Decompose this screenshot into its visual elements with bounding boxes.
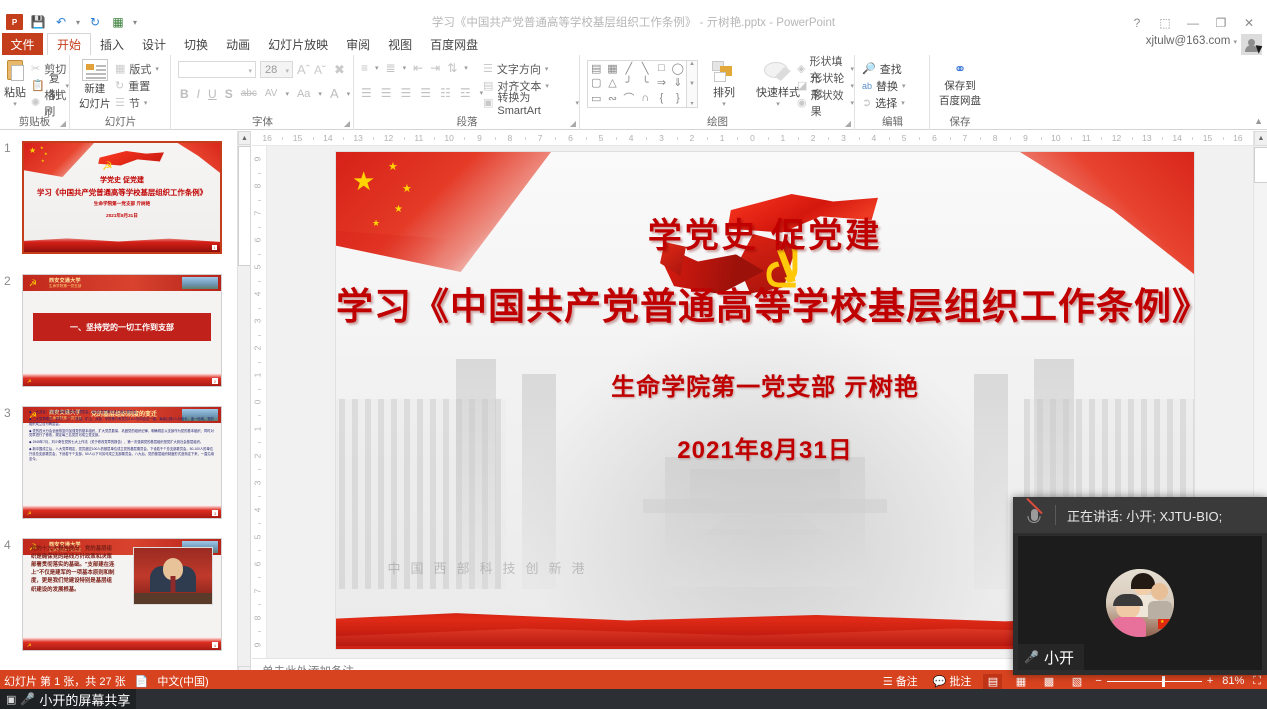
slide-thumbnail-preview[interactable]: ★★★★☭学党史 促党建学习《中国共产党普通高等学校基层组织工作条例》生命学院第… (22, 141, 222, 254)
slide-thumbnail-preview[interactable]: ☭西安交通大学生命学院第一党支部一、坚持党的一切工作到支部☭2 (22, 274, 222, 387)
text-shadow-button[interactable]: S (225, 87, 233, 101)
ruler-tick-label: 9 (1023, 133, 1028, 143)
scroll-thumb[interactable] (1254, 147, 1267, 183)
list-item: ◆ 二大党章规定：农村、工厂、铁路、矿山、兵营、学校等凡有党员3-5人的均应合一… (29, 417, 215, 427)
shape-elbow2-icon[interactable]: ╰ (642, 76, 649, 89)
quick-styles-chevron-icon[interactable]: ▾ (776, 100, 780, 108)
slide-title-line2[interactable]: 学习《中国共产党普通高等学校基层组织工作条例》 (336, 276, 1194, 330)
microphone-muted-icon[interactable] (1013, 497, 1055, 533)
ruler-tick (737, 137, 738, 140)
line-spacing-icon[interactable]: ⇅ (447, 61, 457, 75)
thumbnail-page-number: 3 (212, 510, 218, 516)
decrease-font-size-icon[interactable]: A˘ (314, 63, 326, 77)
font-name-chevron-icon[interactable]: ▾ (248, 67, 252, 75)
layout-button[interactable]: ▦ 版式 ▾ (115, 60, 159, 77)
shape-rect-icon[interactable]: □ (658, 62, 665, 74)
restore-icon[interactable]: ❐ (1207, 15, 1235, 31)
font-dialog-launcher-icon[interactable]: ◢ (344, 119, 350, 128)
group-label-drawing: 绘图 (581, 114, 854, 129)
thumbnail-scroll-up-icon[interactable]: ▲ (238, 131, 251, 145)
ruler-tick (258, 604, 261, 605)
font-name-input[interactable]: ▾ (178, 61, 256, 78)
gallery-expand-icon[interactable]: ▾ (690, 100, 693, 107)
slide-thumbnail-number: 2 (4, 274, 11, 288)
select-button[interactable]: ➲ 选择 ▾ (862, 94, 906, 111)
ruler-tick-label: 3 (841, 133, 846, 143)
new-slide-button[interactable]: 新建 幻灯片 (79, 59, 111, 111)
align-text-icon: ▤ (483, 79, 493, 92)
ribbon-group-drawing: ▤ ▦ ╱ ╲ □ ◯ ▢ △ ╯ ╰ ⇒ ⇓ ▭ ∾ ⌒ ∩ { (581, 55, 855, 130)
screen-share-icon: ▣ (6, 693, 16, 706)
scissors-icon: ✂ (31, 62, 40, 75)
ruler-tick-label: 12 (1112, 133, 1121, 143)
thumbnail-page-number: 4 (212, 642, 218, 648)
ruler-tick (258, 227, 261, 228)
tab-8[interactable]: 百度网盘 (421, 33, 487, 55)
ruler-tick (258, 496, 261, 497)
ruler-tick-label: 3 (252, 319, 262, 324)
ruler-tick (343, 137, 344, 140)
numbering-chevron-icon[interactable]: ▾ (403, 64, 407, 72)
smartart-chevron-icon[interactable]: ▾ (575, 99, 579, 107)
section-button[interactable]: ☰ 节 ▾ (115, 94, 159, 111)
slide-counter[interactable]: 幻灯片 第 1 张，共 27 张 (4, 673, 126, 689)
ruler-tick (980, 137, 981, 140)
star-icon: ★ (388, 160, 398, 173)
align-left-icon[interactable]: ☰ (361, 86, 372, 100)
align-right-icon[interactable]: ☰ (401, 86, 412, 100)
select-cursor-icon: ➲ (862, 96, 871, 109)
ruler-tick (586, 137, 587, 140)
shape-flow-icon[interactable]: ▭ (591, 92, 601, 105)
scroll-up-icon[interactable]: ▲ (1254, 131, 1267, 146)
ruler-tick-label: 2 (252, 454, 262, 459)
reset-icon: ↻ (115, 79, 124, 92)
clear-formatting-icon[interactable]: ✖ (334, 62, 345, 78)
slide-subtitle-2[interactable]: 2021年8月31日 (336, 430, 1194, 465)
ruler-tick-label: 5 (252, 265, 262, 270)
video-panel-header: 正在讲话: 小开; XJTU-BIO; (1013, 497, 1267, 533)
ruler-tick-label: 1 (252, 373, 262, 378)
ruler-tick (646, 137, 647, 140)
gallery-scroll-down-icon[interactable]: ▼ (689, 81, 695, 87)
shape-outline-chevron-icon[interactable]: ▾ (850, 82, 854, 90)
ruler-tick (258, 631, 261, 632)
ruler-tick-label: 7 (252, 588, 262, 593)
shape-arc-icon[interactable]: ⌒ (623, 90, 634, 106)
shape-arrow-down-icon[interactable]: ⇓ (673, 76, 682, 89)
ruler-tick (1101, 137, 1102, 140)
text-direction-button[interactable]: ☰ 文字方向 ▾ (483, 60, 579, 77)
list-item: ◆ 新中国成立后，八大党章规定，党员超过100人的基层单位成立党的基层委员会，下… (29, 447, 215, 461)
ruler-tick-label: 10 (444, 133, 453, 143)
taskbar-item-label: 小开的屏幕共享 (39, 690, 130, 709)
shape-roundrect-icon[interactable]: ▢ (591, 76, 601, 89)
list-item: ◆ 1945年7月，刘少奇在党的七大上作法（关于修改党章的报告），第一次强调党的… (29, 440, 215, 445)
title-bar: P 💾 ↶ ▾ ↻ ▦ ▾ 学习《中国共产党普通高等学校基层组织工作条例》 - … (0, 0, 1267, 33)
shape-arrow-icon[interactable]: ╲ (642, 62, 649, 75)
binoculars-icon: 🔎 (862, 62, 876, 75)
ruler-tick (258, 550, 261, 551)
ruler-tick (464, 137, 465, 140)
convert-smartart-button[interactable]: ▣ 转换为 SmartArt ▾ (483, 94, 579, 111)
paste-button[interactable]: 粘贴 ▾ (4, 60, 26, 108)
video-conference-panel[interactable]: 正在讲话: 小开; XJTU-BIO; ★ 🎤 小开 (1013, 497, 1267, 675)
underline-button[interactable]: U (208, 87, 217, 101)
ribbon: 粘贴 ▾ ✂ 剪切 📋 复制 ▾ ✺ 格式刷 剪贴板 ◢ (0, 55, 1267, 130)
ruler-tick-label: 12 (384, 133, 393, 143)
thumbnail-scroll-thumb[interactable] (238, 146, 251, 266)
slide-thumbnail-2[interactable]: 2☭西安交通大学生命学院第一党支部一、坚持党的一切工作到支部☭2 (22, 274, 222, 387)
party-emblem-icon: ☭ (29, 278, 42, 289)
avatar: ★ (1106, 569, 1174, 637)
tab-5[interactable]: 幻灯片放映 (259, 33, 337, 55)
group-label-paragraph: 段落 (355, 114, 579, 129)
ruler-tick-label: 1 (780, 133, 785, 143)
reading-view-button[interactable]: ▩ (1039, 674, 1058, 689)
window-controls[interactable]: ? ⬚ — ❐ ✕ (1123, 15, 1263, 31)
tab-file[interactable]: 文件 (2, 33, 43, 55)
thumbnail-header-sub: 生命学院第一党支部 (49, 284, 81, 289)
text-direction-chevron-icon[interactable]: ▾ (545, 65, 549, 73)
paragraph-dialog-launcher-icon[interactable]: ◢ (570, 119, 576, 128)
ruler-tick (258, 415, 261, 416)
close-icon[interactable]: ✕ (1235, 15, 1263, 31)
align-center-icon[interactable]: ☰ (381, 86, 392, 100)
comments-button[interactable]: 💬 批注 (930, 672, 975, 690)
change-case-chevron-icon[interactable]: ▾ (318, 90, 322, 98)
tab-1[interactable]: 插入 (91, 33, 133, 55)
ruler-tick (798, 137, 799, 140)
character-spacing-chevron-icon[interactable]: ▾ (285, 90, 289, 98)
account-chevron-icon[interactable]: ▾ (1233, 39, 1237, 46)
save-to-baidu-button[interactable]: ⚭ 保存到 百度网盘 (931, 60, 989, 108)
ruler-tick (258, 362, 261, 363)
ruler-tick-label: 0 (750, 133, 755, 143)
thumbnail-banner-text: 一、坚持党的一切工作到支部 (33, 313, 211, 341)
ribbon-tabs: 开始插入设计切换动画幻灯片放映审阅视图百度网盘 (47, 33, 487, 55)
bold-button[interactable]: B (180, 87, 189, 101)
arrange-button[interactable]: 排列 ▾ (711, 60, 737, 108)
ruler-tick-label: 7 (252, 211, 262, 216)
thumbnail-paragraph: 党的十九大报告提出，党的基层组织是确保党的路线方针政策和决策部署贯彻落实的基础。… (31, 545, 117, 594)
ruler-tick (258, 281, 261, 282)
taskbar: ▣ 🎤 小开的屏幕共享 (0, 689, 1267, 709)
thumbnail-bullet-list: ◆ 一大决议：只能立事和党和地方委员会，每5名党员即可设立地方委员会。◆ 二大党… (29, 410, 215, 464)
zoom-in-button[interactable]: + (1207, 675, 1213, 687)
strikethrough-button[interactable]: abc (241, 88, 257, 99)
help-icon[interactable]: ? (1123, 15, 1151, 31)
list-item: ◆ 一大决议：只能立事和党和地方委员会，每5名党员即可设立地方委员会。 (29, 410, 215, 415)
ruler-tick-label: 3 (252, 480, 262, 485)
shape-effects-icon: ◉ (797, 96, 807, 109)
proofing-icon[interactable]: 📄 (135, 675, 149, 688)
campus-photo (182, 277, 218, 289)
ruler-tick-label: 10 (1051, 133, 1060, 143)
ruler-tick (404, 137, 405, 140)
ruler-tick (1223, 137, 1224, 140)
fit-slide-icon[interactable]: ⛶ (1253, 675, 1261, 688)
font-size-chevron-icon[interactable]: ▾ (285, 67, 289, 75)
zoom-track[interactable] (1107, 681, 1202, 682)
paintbrush-icon: ✺ (31, 96, 40, 109)
footer-emblem-icon: ☭ (27, 379, 31, 385)
ruler-tick (919, 137, 920, 140)
group-label-save: 保存 (931, 114, 989, 129)
ruler-tick (555, 137, 556, 140)
ruler-tick (258, 335, 261, 336)
section-icon: ☰ (115, 96, 125, 109)
drawing-dialog-launcher-icon[interactable]: ◢ (845, 119, 851, 128)
thumbnail-content: ☭西安交通大学生命学院第一党支部党的十九大报告提出，党的基层组织是确保党的路线方… (23, 539, 221, 650)
ribbon-tab-bar: 文件 开始插入设计切换动画幻灯片放映审阅视图百度网盘 xjtulw@163.co… (0, 33, 1267, 55)
increase-font-size-icon[interactable]: Aˆ (297, 62, 310, 77)
window-title: 学习《中国共产党普通高等学校基层组织工作条例》 - 亓树艳.pptx - Pow… (0, 14, 1267, 30)
tab-2[interactable]: 设计 (133, 33, 175, 55)
font-color-chevron-icon[interactable]: ▾ (347, 90, 351, 98)
ruler-tick-label: 4 (629, 133, 634, 143)
shape-effects-chevron-icon[interactable]: ▾ (850, 99, 854, 107)
shape-freeform-icon[interactable]: ∾ (608, 92, 617, 105)
ruler-tick-label: 6 (932, 133, 937, 143)
ruler-tick (258, 442, 261, 443)
slide-thumbnail-1[interactable]: 1★★★★☭学党史 促党建学习《中国共产党普通高等学校基层组织工作条例》生命学院… (22, 141, 222, 254)
star-icon: ★ (402, 182, 412, 195)
ruler-tick (258, 469, 261, 470)
speaking-status-text: 正在讲话: 小开; XJTU-BIO; (1067, 506, 1222, 525)
ruler-tick (525, 137, 526, 140)
shapes-gallery-scrollbar[interactable]: ▲ ▼ ▾ (687, 60, 698, 108)
star-icon: ★ (352, 166, 375, 197)
ribbon-group-paragraph: ≡▾ ≣▾ ⇤ ⇥ ⇅▾ ☰ ☰ ☰ ☰ ☷ ☲▾ ☰ 文字方向 ▾ (355, 55, 580, 130)
smartart-icon: ▣ (483, 96, 493, 109)
ruler-tick-label: 6 (568, 133, 573, 143)
slide-sorter-view-button[interactable]: ▦ (1011, 674, 1030, 689)
ruler-tick-label: 16 (262, 133, 271, 143)
tab-7[interactable]: 视图 (379, 33, 421, 55)
ruler-tick-label: 13 (1142, 133, 1151, 143)
section-chevron-icon[interactable]: ▾ (144, 99, 148, 107)
ruler-tick (258, 200, 261, 201)
ruler-tick-label: 9 (477, 133, 482, 143)
ruler-tick (495, 137, 496, 140)
italic-button[interactable]: I (197, 87, 200, 101)
ruler-tick (1041, 137, 1042, 140)
reset-button[interactable]: ↻ 重置 (115, 77, 159, 94)
group-label-slides: 幻灯片 (71, 114, 170, 129)
thumbnail-content: ☭西安交通大学生命学院第一党支部党的基层组织制度的变迁◆ 一大决议：只能立事和党… (23, 407, 221, 518)
ribbon-group-slides: 新建 幻灯片 ▦ 版式 ▾ ↻ 重置 ☰ 节 ▾ 幻灯片 (71, 55, 171, 130)
ruler-tick (768, 137, 769, 140)
normal-view-button[interactable]: ▤ (983, 674, 1002, 689)
horizontal-ruler: 1615141312111098765432101234567891011121… (252, 131, 1253, 146)
shape-brace-right-icon[interactable]: } (676, 92, 680, 104)
ruler-tick-label: 8 (993, 133, 998, 143)
ruler-tick (373, 137, 374, 140)
replace-chevron-icon[interactable]: ▾ (902, 82, 906, 90)
decrease-indent-icon[interactable]: ⇤ (413, 61, 423, 75)
shape-triangle-icon[interactable]: △ (608, 76, 616, 89)
slide-watermark-text: 中国西部科技创新港 (387, 558, 594, 577)
ruler-tick-label: 4 (252, 292, 262, 297)
ruler-tick (258, 173, 261, 174)
slide-thumbnail-4[interactable]: 4☭西安交通大学生命学院第一党支部党的十九大报告提出，党的基层组织是确保党的路线… (22, 538, 222, 651)
tab-6[interactable]: 审阅 (337, 33, 379, 55)
ruler-tick-label: 7 (538, 133, 543, 143)
slideshow-view-button[interactable]: ▧ (1067, 674, 1086, 689)
ruler-tick-label: 7 (962, 133, 967, 143)
ruler-tick (258, 389, 261, 390)
ruler-tick-label: 4 (252, 507, 262, 512)
replace-icon: ab (862, 81, 872, 91)
select-chevron-icon[interactable]: ▾ (901, 99, 905, 107)
participant-name-badge: 🎤 小开 (1018, 644, 1084, 670)
tab-3[interactable]: 切换 (175, 33, 217, 55)
minimize-icon[interactable]: — (1179, 15, 1207, 31)
footer-emblem-icon: ☭ (27, 511, 31, 517)
font-color-button[interactable]: A (330, 86, 339, 101)
layout-icon: ▦ (115, 62, 125, 75)
account-name[interactable]: xjtulw@163.com ▾ (1146, 35, 1237, 47)
zoom-slider[interactable]: − + (1095, 675, 1213, 687)
ruler-tick (258, 254, 261, 255)
zoom-out-button[interactable]: − (1095, 675, 1101, 687)
ruler-tick-label: 6 (252, 238, 262, 243)
ruler-tick (434, 137, 435, 140)
ruler-tick-label: 0 (252, 400, 262, 405)
ribbon-group-font: ▾ 28 ▾ Aˆ A˘ ✖ B I U S abc AV ▾ Aa ▾ (172, 55, 354, 130)
gallery-scroll-up-icon[interactable]: ▲ (689, 61, 695, 67)
ruler-tick (707, 137, 708, 140)
ruler-tick (258, 523, 261, 524)
justify-icon[interactable]: ☰ (420, 86, 431, 100)
ruler-tick-label: 1 (252, 427, 262, 432)
video-tile[interactable]: ★ 🎤 小开 (1018, 536, 1262, 670)
zoom-handle[interactable] (1162, 676, 1165, 687)
line-spacing-chevron-icon[interactable]: ▾ (464, 64, 468, 72)
copy-icon: 📋 (31, 79, 45, 92)
ribbon-group-save: ⚭ 保存到 百度网盘 保存 (931, 55, 989, 130)
ruler-tick-label: 5 (598, 133, 603, 143)
font-size-input[interactable]: 28 ▾ (260, 61, 293, 78)
shape-elbow-icon[interactable]: ╯ (626, 76, 633, 89)
shape-fill-chevron-icon[interactable]: ▾ (850, 65, 854, 73)
ruler-tick (677, 137, 678, 140)
ruler-tick (859, 137, 860, 140)
shape-brace-left-icon[interactable]: { (660, 92, 664, 104)
shapes-gallery[interactable]: ▤ ▦ ╱ ╲ □ ◯ ▢ △ ╯ ╰ ⇒ ⇓ ▭ ∾ ⌒ ∩ { (587, 60, 687, 108)
new-slide-icon (82, 59, 108, 81)
thumbnail-header-title: 西安交通大学 (49, 277, 81, 284)
quick-styles-button[interactable]: 快速样式 ▾ (756, 60, 800, 108)
vertical-ruler: 9876543210123456789 (252, 146, 267, 658)
replace-button[interactable]: ab 替换 ▾ (862, 77, 906, 94)
paste-icon (4, 60, 26, 84)
shape-curve-icon[interactable]: ∩ (641, 92, 649, 104)
ruler-tick-label: 16 (1233, 133, 1242, 143)
thumbnail-photo (133, 547, 213, 605)
slide-thumbnail-pane[interactable]: 1★★★★☭学党史 促党建学习《中国共产党普通高等学校基层组织工作条例》生命学院… (0, 131, 251, 680)
slide-thumbnail-preview[interactable]: ☭西安交通大学生命学院第一党支部党的十九大报告提出，党的基层组织是确保党的路线方… (22, 538, 222, 651)
slide-thumbnail-3[interactable]: 3☭西安交通大学生命学院第一党支部党的基层组织制度的变迁◆ 一大决议：只能立事和… (22, 406, 222, 519)
group-label-clipboard: 剪贴板 (0, 114, 69, 129)
arrange-icon (711, 60, 737, 84)
slide-thumbnail-number: 1 (4, 141, 11, 155)
ruler-tick-label: 1 (720, 133, 725, 143)
taskbar-item-screen-share[interactable]: ▣ 🎤 小开的屏幕共享 (0, 689, 136, 709)
ruler-tick-label: 2 (689, 133, 694, 143)
tab-0[interactable]: 开始 (47, 33, 91, 56)
numbering-icon[interactable]: ≣ (386, 61, 396, 75)
slide-subtitle-1[interactable]: 生命学院第一党支部 亓树艳 (336, 367, 1194, 402)
ruler-tick-label: 11 (414, 133, 423, 143)
format-painter-button[interactable]: ✺ 格式刷 (31, 94, 69, 111)
ruler-tick-label: 13 (353, 133, 362, 143)
language-indicator[interactable]: 中文(中国) (157, 673, 208, 689)
slide-thumbnail-preview[interactable]: ☭西安交通大学生命学院第一党支部党的基层组织制度的变迁◆ 一大决议：只能立事和党… (22, 406, 222, 519)
notes-button[interactable]: ☰ 备注 (880, 672, 921, 690)
increase-indent-icon[interactable]: ⇥ (430, 61, 440, 75)
layout-chevron-icon[interactable]: ▾ (155, 65, 159, 73)
ruler-tick (889, 137, 890, 140)
ribbon-display-options-icon[interactable]: ⬚ (1151, 15, 1179, 31)
ruler-tick-label: 14 (323, 133, 332, 143)
thumbnail-scrollbar[interactable]: ▲ ▼ (237, 131, 250, 680)
ruler-tick (828, 137, 829, 140)
ribbon-group-editing: 🔎 查找 ab 替换 ▾ ➲ 选择 ▾ 编辑 (856, 55, 930, 130)
collapse-ribbon-icon[interactable]: ▲ (1254, 116, 1263, 126)
shape-chart-icon[interactable]: ▦ (607, 62, 617, 75)
shape-effects-button[interactable]: ◉ 形状效果 ▾ (797, 94, 854, 111)
ruler-tick-label: 6 (252, 561, 262, 566)
group-label-font: 字体 (172, 114, 353, 129)
tab-4[interactable]: 动画 (217, 33, 259, 55)
shape-textbox-icon[interactable]: ▤ (591, 62, 601, 75)
ruler-tick-label: 5 (252, 534, 262, 539)
ruler-tick (616, 137, 617, 140)
bullets-icon[interactable]: ≡ (361, 61, 368, 75)
text-columns-icon[interactable]: ☲ (460, 86, 471, 100)
ruler-tick (282, 137, 283, 140)
paste-chevron-icon[interactable]: ▾ (13, 100, 17, 108)
ruler-tick (258, 577, 261, 578)
shape-line-icon[interactable]: ╱ (626, 62, 633, 75)
ruler-tick (1132, 137, 1133, 140)
ruler-tick-label: 11 (1082, 133, 1091, 143)
character-spacing-button[interactable]: AV (265, 88, 278, 99)
find-button[interactable]: 🔎 查找 (862, 60, 906, 77)
shape-arrow-right-icon[interactable]: ⇒ (657, 76, 666, 89)
ruler-tick-label: 2 (252, 346, 262, 351)
columns-icon[interactable]: ☷ (440, 86, 451, 100)
quick-styles-icon (761, 60, 795, 84)
ruler-tick (258, 308, 261, 309)
group-label-editing: 编辑 (856, 114, 929, 129)
ruler-tick-label: 8 (252, 184, 262, 189)
ruler-tick (1071, 137, 1072, 140)
arrange-chevron-icon[interactable]: ▾ (722, 100, 726, 108)
clipboard-dialog-launcher-icon[interactable]: ◢ (60, 119, 66, 128)
ruler-tick (313, 137, 314, 140)
ribbon-group-clipboard: 粘贴 ▾ ✂ 剪切 📋 复制 ▾ ✺ 格式刷 剪贴板 ◢ (0, 55, 70, 130)
bullets-chevron-icon[interactable]: ▾ (375, 64, 379, 72)
change-case-button[interactable]: Aa (297, 88, 310, 100)
ruler-tick (1192, 137, 1193, 140)
zoom-level[interactable]: 81% (1222, 675, 1244, 687)
shape-oval-icon[interactable]: ◯ (672, 62, 684, 75)
slide-title-line1[interactable]: 学党史 促党建 (336, 208, 1194, 257)
ruler-tick (1010, 137, 1011, 140)
